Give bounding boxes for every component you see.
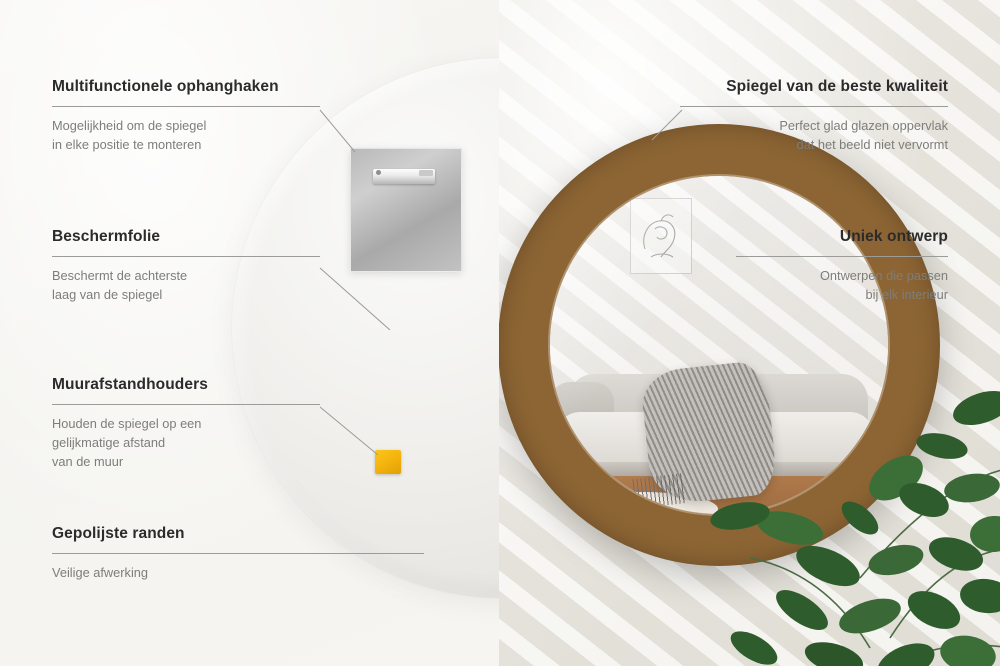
infographic-stage: Multifunctionele ophanghaken Mogelijkhei… (0, 0, 1000, 666)
hook-screw-icon (376, 170, 381, 175)
callout-foil-title: Beschermfolie (52, 228, 320, 247)
callout-quality: Spiegel van de beste kwaliteit Perfect g… (680, 78, 948, 154)
callout-edges-title: Gepolijste randen (52, 525, 424, 544)
callout-edges: Gepolijste randen Veilige afwerking (52, 525, 424, 582)
callout-spacers-title: Muurafstandhouders (52, 376, 320, 395)
callout-design-title: Uniek ontwerp (736, 228, 948, 247)
callout-foil-description: Beschermt de achterste laag van de spieg… (52, 266, 320, 304)
callout-spacers: Muurafstandhouders Houden de spiegel op … (52, 376, 320, 471)
hook-bracket-icon (373, 169, 435, 184)
callout-quality-rule (680, 106, 948, 107)
callout-foil: Beschermfolie Beschermt de achterste laa… (52, 228, 320, 304)
callout-hooks-title: Multifunctionele ophanghaken (52, 78, 320, 97)
foliage-branches (710, 348, 1000, 666)
callout-quality-description: Perfect glad glazen oppervlak dat het be… (680, 116, 948, 154)
callout-hooks: Multifunctionele ophanghaken Mogelijkhei… (52, 78, 320, 154)
callout-hooks-description: Mogelijkheid om de spiegel in elke posit… (52, 116, 320, 154)
callout-design-rule (736, 256, 948, 257)
callout-edges-description: Veilige afwerking (52, 563, 424, 582)
callout-foil-rule (52, 256, 320, 257)
wall-spacer-yellow (375, 450, 401, 474)
callout-spacers-rule (52, 404, 320, 405)
callout-spacers-description: Houden de spiegel op een gelijkmatige af… (52, 414, 320, 472)
callout-quality-title: Spiegel van de beste kwaliteit (680, 78, 948, 97)
hanging-hook-plate (350, 148, 462, 272)
callout-design-description: Ontwerpen die passen bij elk interieur (736, 266, 948, 304)
callout-hooks-rule (52, 106, 320, 107)
callout-edges-rule (52, 553, 424, 554)
callout-design: Uniek ontwerp Ontwerpen die passen bij e… (736, 228, 948, 304)
